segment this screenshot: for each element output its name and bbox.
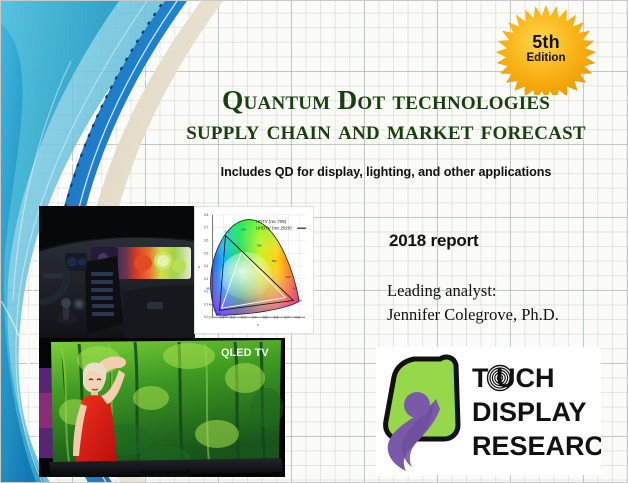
svg-text:460: 460 xyxy=(216,312,221,316)
page-title: Quantum Dot technologies supply chain an… xyxy=(151,85,621,145)
cie-legend-uhdtv: UHDTV (rec.2020) xyxy=(256,226,292,231)
title-line-2: supply chain and market forecast xyxy=(151,115,621,145)
svg-text:0.0: 0.0 xyxy=(204,315,209,319)
report-year-label: 2018 report xyxy=(389,231,478,251)
svg-text:0.5: 0.5 xyxy=(263,316,268,320)
qled-watermark: QLED TV xyxy=(221,347,269,359)
svg-text:0.0: 0.0 xyxy=(209,316,214,320)
svg-text:0.7: 0.7 xyxy=(284,316,289,320)
svg-text:540: 540 xyxy=(241,228,246,232)
logo-line-1: T UCH xyxy=(472,363,555,393)
logo-line-3: RESEARCH xyxy=(472,431,601,461)
svg-text:0.4: 0.4 xyxy=(204,264,209,268)
svg-text:0.6: 0.6 xyxy=(274,316,279,320)
svg-text:560: 560 xyxy=(257,243,262,247)
svg-text:0.2: 0.2 xyxy=(230,316,235,320)
svg-text:0.6: 0.6 xyxy=(204,238,209,242)
svg-text:0.5: 0.5 xyxy=(204,251,209,255)
analyst-block: Leading analyst: Jennifer Colegrove, Ph.… xyxy=(387,279,559,327)
svg-text:480: 480 xyxy=(209,302,214,306)
edition-starburst-badge xyxy=(487,3,605,95)
svg-text:700: 700 xyxy=(297,298,302,302)
svg-text:0.3: 0.3 xyxy=(241,316,246,320)
svg-text:0.7: 0.7 xyxy=(204,226,209,230)
report-cover-page: 5th Edition Quantum Dot technologies sup… xyxy=(0,0,628,483)
svg-text:y: y xyxy=(198,264,200,269)
analyst-label: Leading analyst: xyxy=(387,279,559,303)
car-interior-photo xyxy=(39,206,195,340)
logo-line-2: DISPLAY xyxy=(472,397,587,427)
qled-tv-photo: QLED TV xyxy=(39,338,285,477)
svg-text:0.3: 0.3 xyxy=(204,277,209,281)
svg-text:x: x xyxy=(257,322,259,327)
svg-text:490: 490 xyxy=(206,287,211,291)
touch-display-research-logo: T UCH DISPLAY RESEARCH xyxy=(376,347,601,475)
svg-text:580: 580 xyxy=(272,259,277,263)
title-line-1: Quantum Dot technologies xyxy=(151,85,621,115)
svg-text:520: 520 xyxy=(225,230,230,234)
touch-dot xyxy=(404,392,430,418)
page-subtitle: Includes QD for display, lighting, and o… xyxy=(151,165,621,179)
cie-chromaticity-diagram: HDTV (rec.709) UHDTV (rec.2020) 0.00.1 0… xyxy=(194,206,314,334)
analyst-name: Jennifer Colegrove, Ph.D. xyxy=(387,303,559,327)
svg-text:0.8: 0.8 xyxy=(204,213,209,217)
svg-text:600: 600 xyxy=(285,275,290,279)
svg-text:0.8: 0.8 xyxy=(295,316,300,320)
svg-text:620: 620 xyxy=(292,287,297,291)
svg-text:0.4: 0.4 xyxy=(252,316,257,320)
cie-legend-hdtv: HDTV (rec.709) xyxy=(256,219,287,224)
svg-text:380: 380 xyxy=(223,314,228,318)
